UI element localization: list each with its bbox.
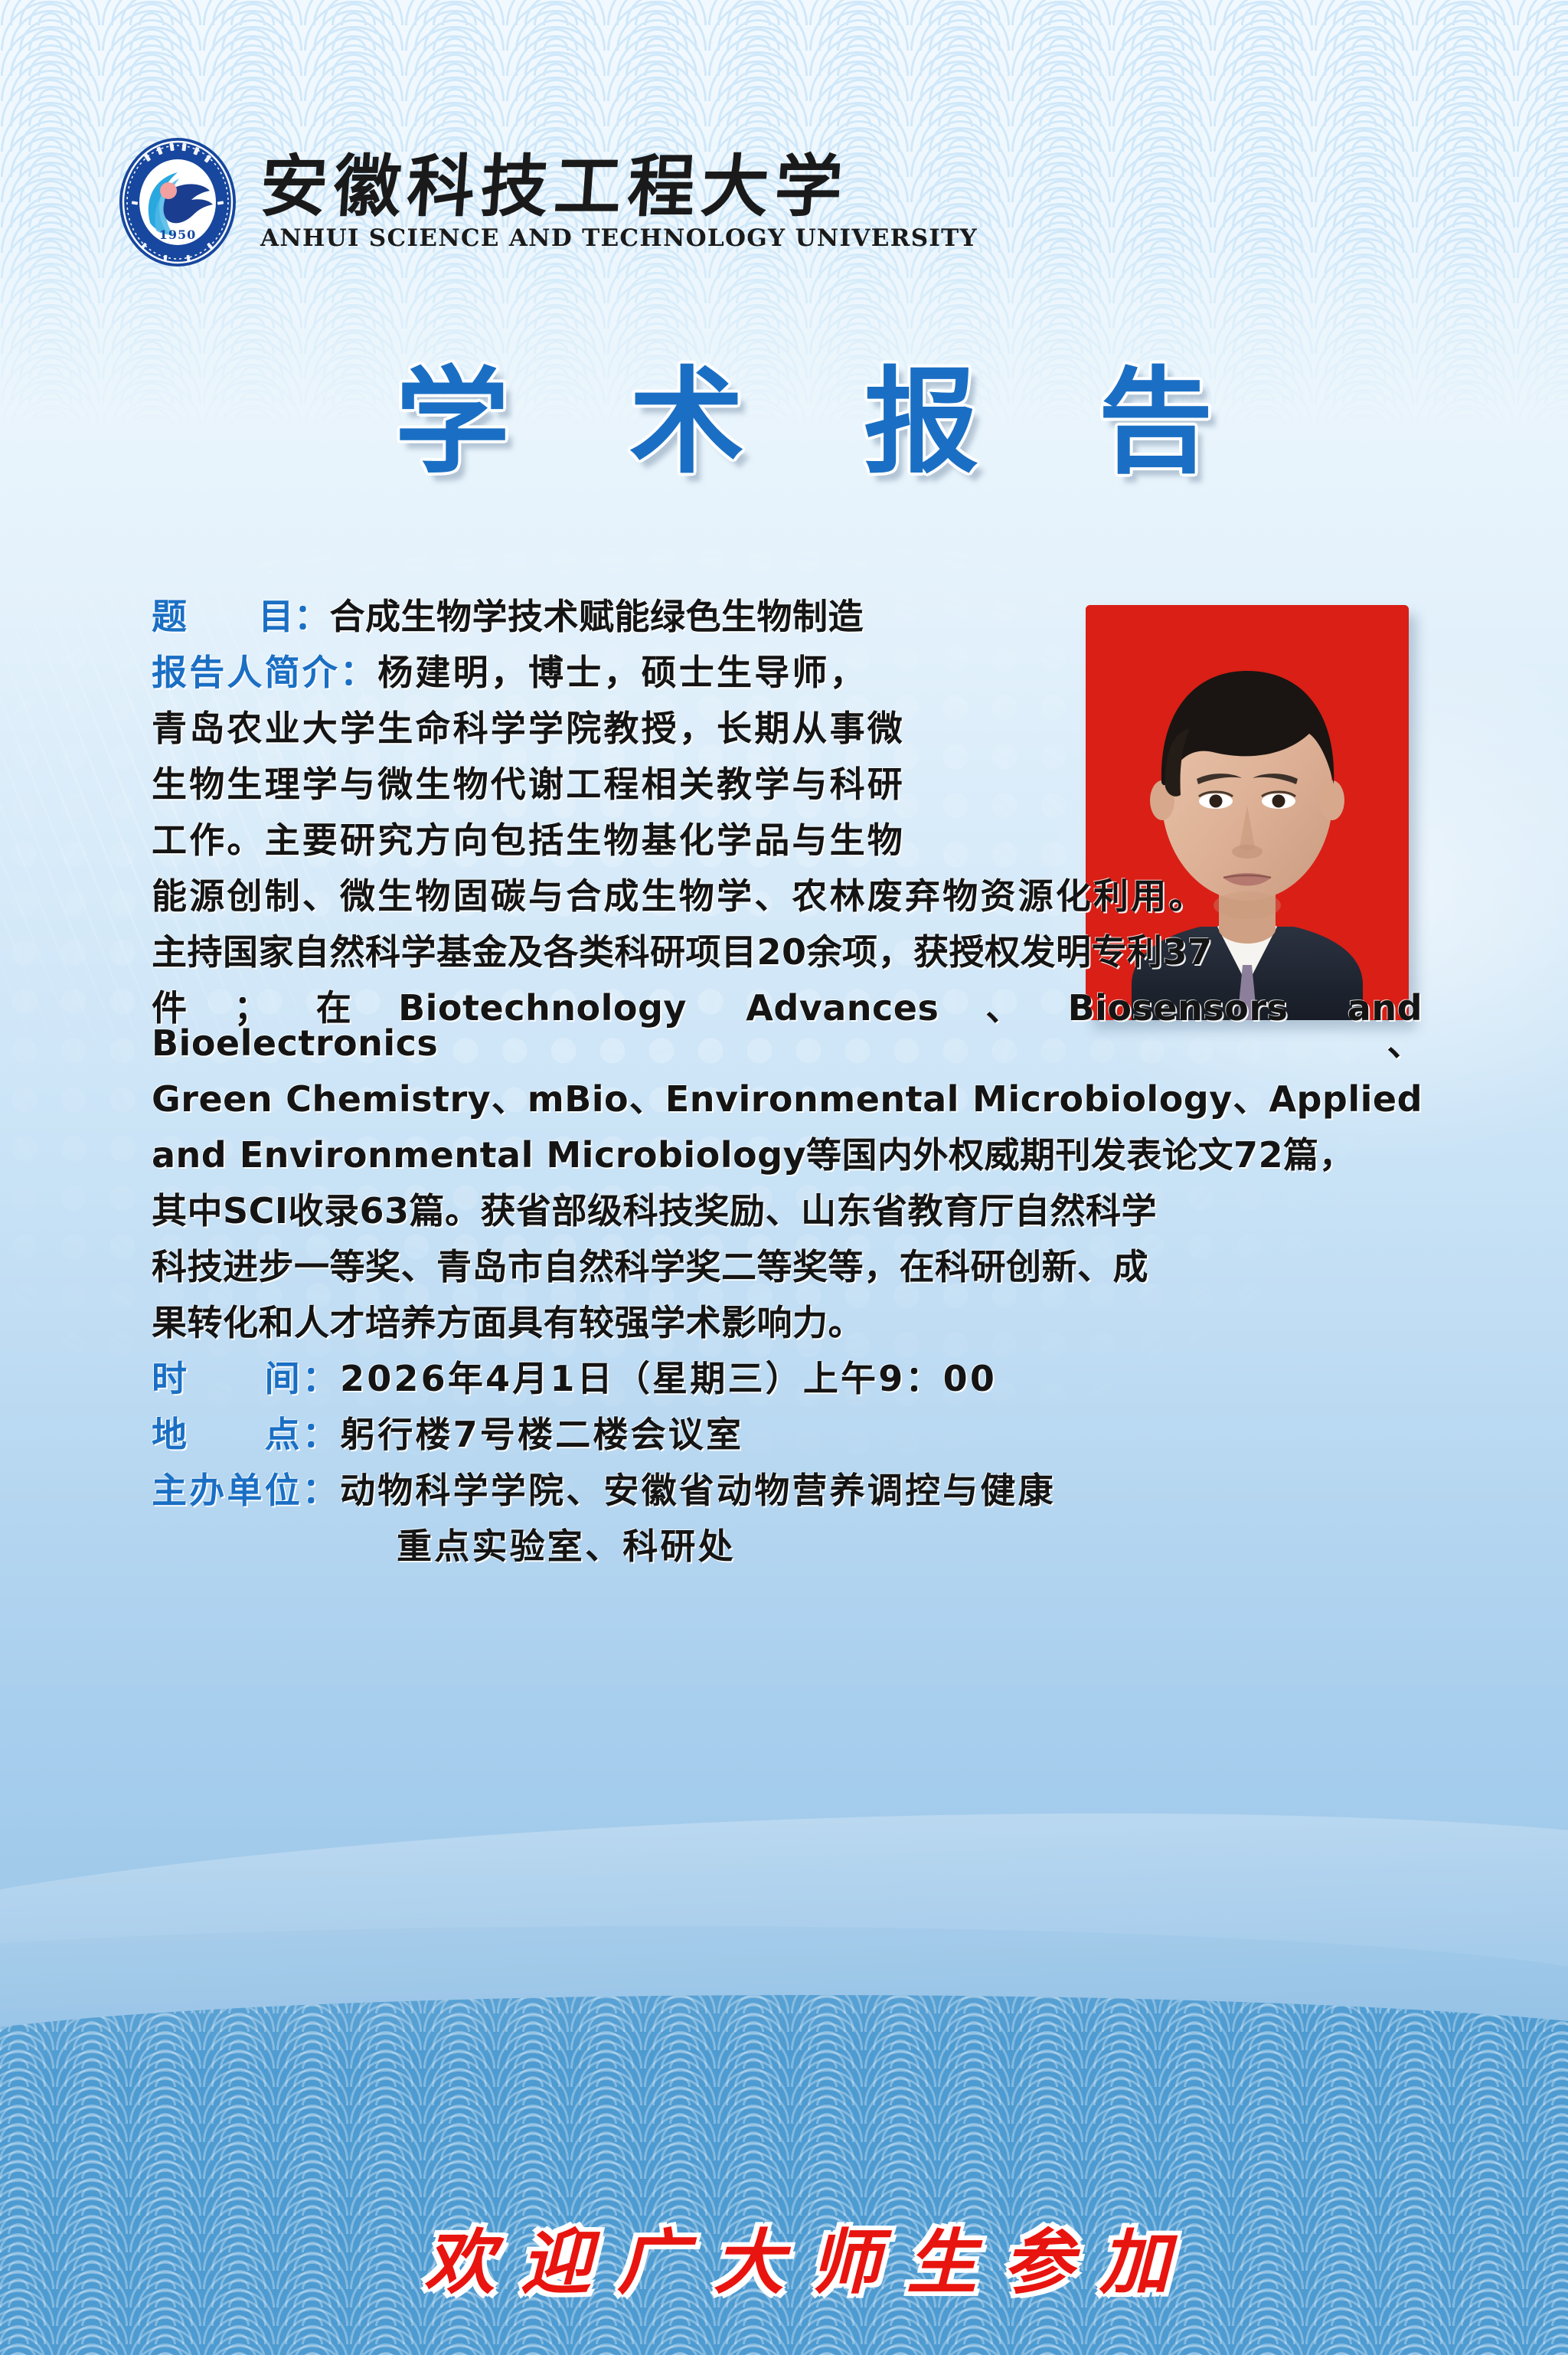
welcome-banner: 欢迎广大师生参加 [0,2206,1568,2308]
speaker-label: 报告人简介： [152,652,377,693]
bio-line: 生物生理学与微生物代谢工程相关教学与科研 [152,767,1423,802]
anhui-university-emblem-icon: 1950 [115,134,240,270]
university-name-block: 安徽科技工程大学 ANHUI SCIENCE AND TECHNOLOGY UN… [260,152,978,252]
bio-line: 主持国家自然科学基金及各类科研项目20余项，获授权发明专利37 [152,934,1423,970]
bio-line: 果转化和人才培养方面具有较强学术影响力。 [152,1305,1423,1340]
topic-value: 合成生物学技术赋能绿色生物制造 [330,596,864,637]
university-name-en: ANHUI SCIENCE AND TECHNOLOGY UNIVERSITY [260,224,978,252]
place-line: 地 点：躬行楼7号楼二楼会议室 [152,1417,1423,1452]
time-label: 时 间： [152,1358,340,1399]
bio-line: and Environmental Microbiology等国内外权威期刊发表… [152,1137,1423,1173]
bio-line: 工作。主要研究方向包括生物基化学品与生物 [152,823,1423,858]
bio-line: 青岛农业大学生命科学学院教授，长期从事微 [152,711,1423,746]
host-line-continued: 重点实验室、科研处 [152,1529,1423,1564]
host-value: 动物科学学院、安徽省动物营养调控与健康 [340,1470,1056,1511]
page-title: 学 术 报 告 [0,329,1568,496]
university-name-cn: 安徽科技工程大学 [258,152,980,221]
academic-lecture-poster: 1950 安徽科技工程大学 [0,0,1568,2355]
bio-line: 科技进步一等奖、青岛市自然科学奖二等奖等，在科研创新、成 [152,1249,1423,1284]
bio-line: 能源创制、微生物固碳与合成生物学、农林废弃物资源化利用。 [152,878,1423,914]
topic-line: 题 目：合成生物学技术赋能绿色生物制造 [152,599,1423,634]
bio-line: Green Chemistry、mBio、Environmental Micro… [152,1081,1423,1117]
time-line: 时 间：2026年4月1日（星期三）上午9：00 [152,1361,1423,1396]
host-label: 主办单位： [152,1470,340,1511]
place-value: 躬行楼7号楼二楼会议室 [340,1414,743,1455]
bio-line: 其中SCI收录63篇。获省部级科技奖励、山东省教育厅自然科学 [152,1193,1423,1228]
svg-text:1950: 1950 [159,227,197,242]
place-label: 地 点： [152,1414,340,1455]
bio-line: 件；在Biotechnology Advances、Biosensors and… [152,990,1423,1061]
time-value: 2026年4月1日（星期三）上午9：00 [340,1358,997,1399]
poster-header: 1950 安徽科技工程大学 [115,134,978,270]
speaker-intro-line: 报告人简介：杨建明，博士，硕士生导师， [152,655,1423,690]
poster-body: 题 目：合成生物学技术赋能绿色生物制造 报告人简介：杨建明，博士，硕士生导师， … [152,599,1423,1585]
topic-label: 题 目： [152,596,330,637]
bio-line-0: 杨建明，博士，硕士生导师， [377,652,867,693]
host-line: 主办单位：动物科学学院、安徽省动物营养调控与健康 [152,1473,1423,1508]
